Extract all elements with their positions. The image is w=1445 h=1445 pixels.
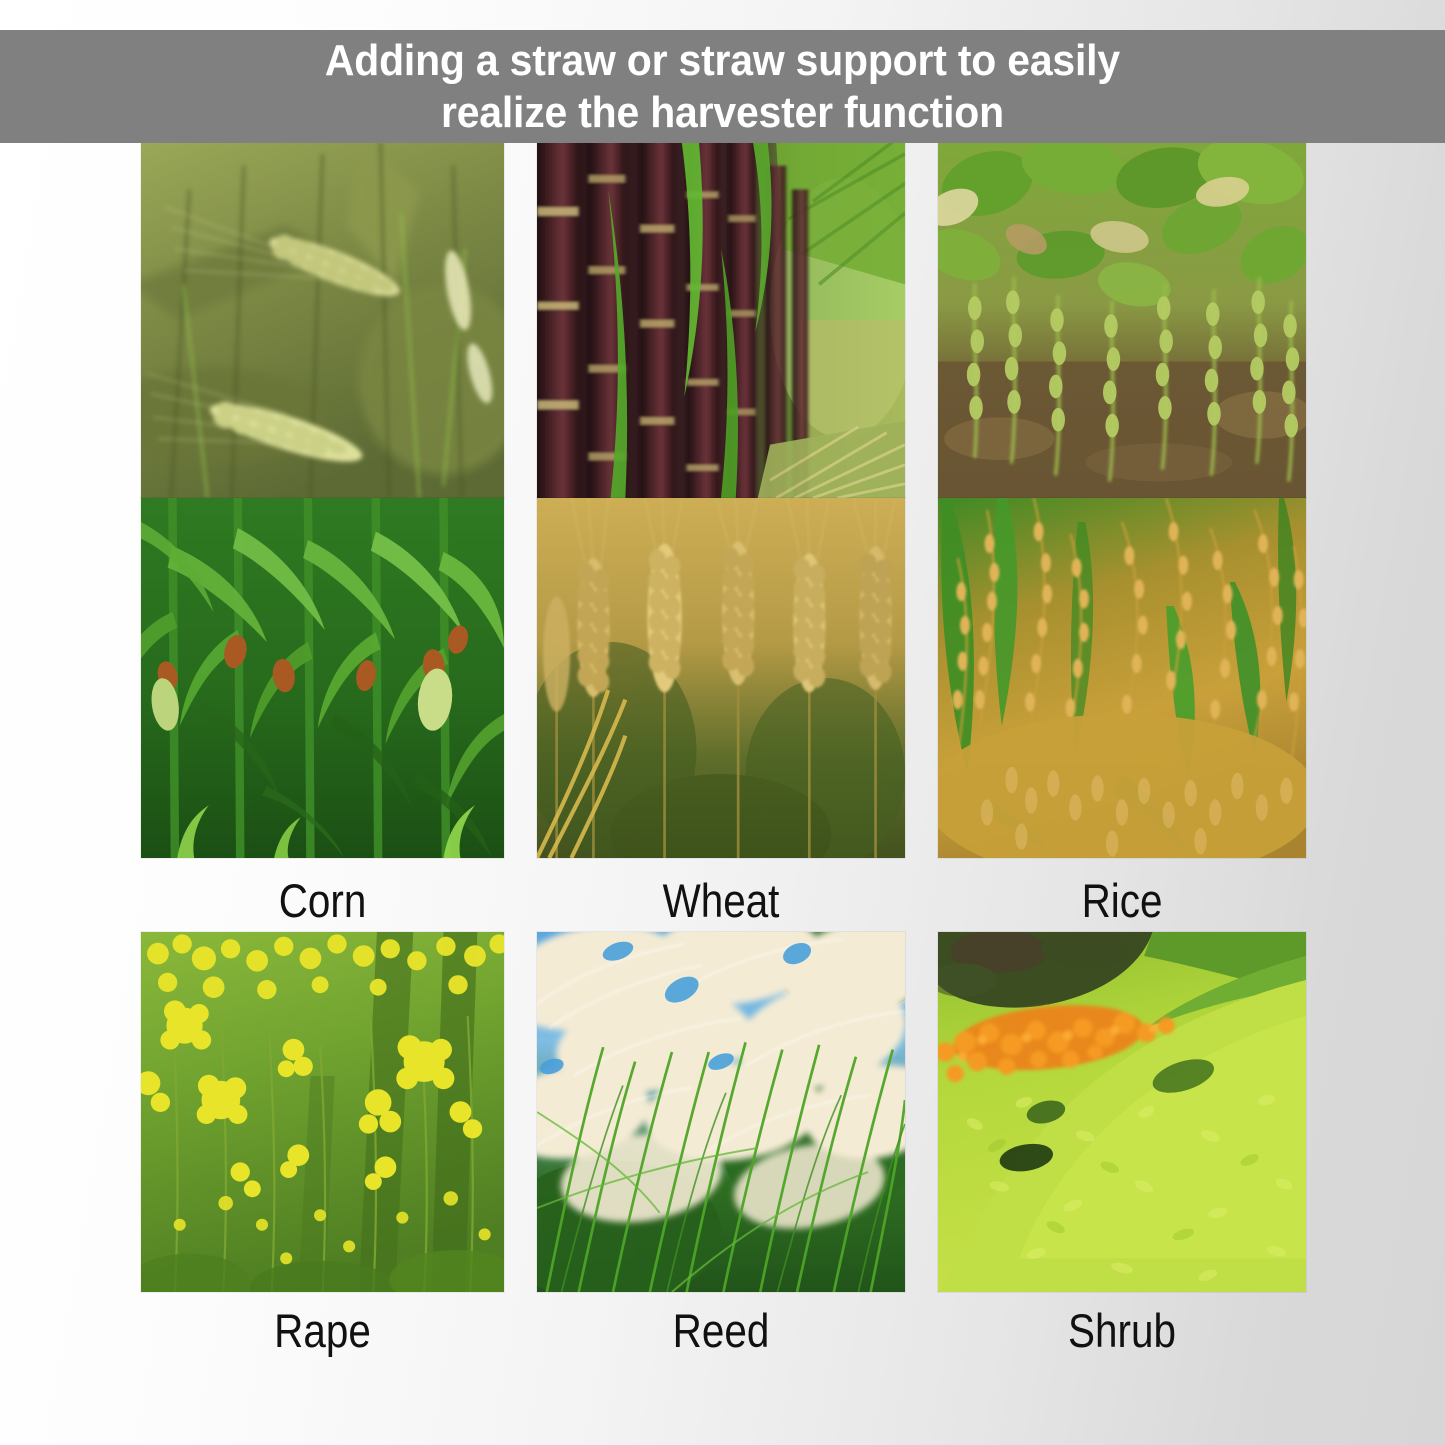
crop-label: Wheat [563, 876, 879, 926]
header-banner: Adding a straw or straw support to easil… [0, 30, 1445, 143]
crop-label: Rape [166, 1306, 478, 1356]
barley-photo [141, 142, 504, 498]
reed-photo [537, 932, 905, 1292]
rape-photo [141, 932, 504, 1292]
crop-cell-rice[interactable]: Rice [938, 498, 1306, 932]
crop-cell-shrub[interactable]: Shrub [938, 932, 1306, 1292]
crop-label: Reed [563, 1306, 879, 1356]
poster-root: Adding a straw or straw support to easil… [0, 0, 1445, 1445]
banner-title: Adding a straw or straw support to easil… [325, 35, 1120, 139]
crop-cell-rape[interactable]: Rape [141, 932, 504, 1292]
crop-gallery-grid: Barley [141, 142, 1305, 1292]
corn-photo [141, 498, 504, 858]
crop-cell-reed[interactable]: Reed [537, 932, 905, 1292]
rice-photo [938, 498, 1306, 858]
crop-label: Shrub [964, 1306, 1280, 1356]
crop-cell-wheat[interactable]: Wheat [537, 498, 905, 932]
crop-cell-corn[interactable]: Corn [141, 498, 504, 932]
wheat-photo [537, 498, 905, 858]
shrub-photo [938, 932, 1306, 1292]
soybeans-photo [938, 142, 1306, 498]
crop-label: Rice [964, 876, 1280, 926]
crop-cell-barley[interactable]: Barley [141, 142, 504, 498]
sugar-cane-photo [537, 142, 905, 498]
crop-label: Corn [166, 876, 478, 926]
crop-cell-sugar-cane[interactable]: Sugar cane [537, 142, 905, 498]
crop-cell-soybeans[interactable]: Soybeans [938, 142, 1306, 498]
